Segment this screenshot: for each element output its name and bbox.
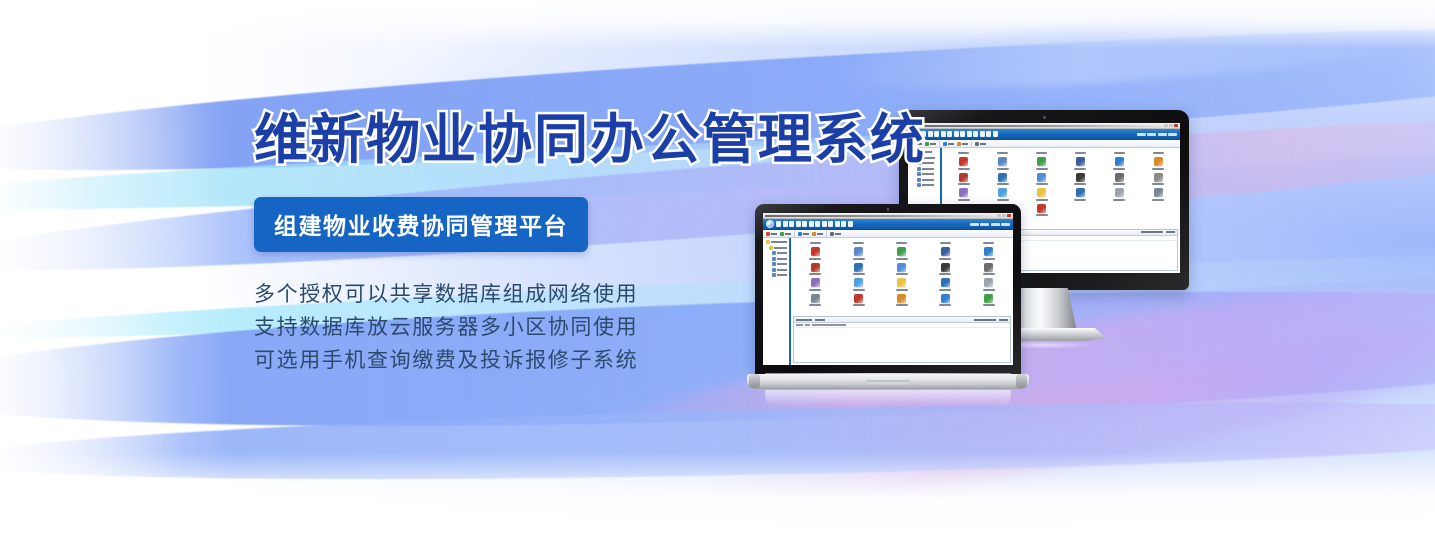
module-icon	[959, 157, 968, 166]
module-icon	[984, 247, 993, 256]
webcam-icon	[1043, 116, 1046, 119]
grid-header-label	[1036, 152, 1047, 154]
headline-title: 维新物业协同办公管理系统	[254, 112, 894, 169]
menu-item[interactable]	[941, 131, 946, 137]
module-icon	[1037, 173, 1046, 182]
module-icon-label	[1074, 168, 1086, 170]
module-icon	[984, 263, 993, 272]
promo-banner: 维新物业协同办公管理系统 组建物业收费协同管理平台 多个授权可以共享数据库组成网…	[0, 0, 1435, 538]
feature-line: 可选用手机查询缴费及投诉报修子系统	[254, 344, 894, 377]
module-icon-item[interactable]	[945, 157, 983, 170]
close-button[interactable]	[1007, 214, 1011, 217]
menubar-link[interactable]	[1168, 133, 1177, 136]
grid-header-cell	[1139, 152, 1177, 154]
tree-item-label	[922, 184, 934, 186]
tree-item-icon	[917, 183, 921, 187]
grid-header-cell	[1061, 152, 1099, 154]
laptop-foot-right	[1016, 374, 1027, 388]
toolbar-button-label	[980, 143, 986, 145]
feature-list: 多个授权可以共享数据库组成网络使用 支持数据库放云服务器多小区协同使用 可选用手…	[254, 278, 894, 377]
menu-item[interactable]	[960, 131, 965, 137]
close-button[interactable]	[1174, 124, 1178, 127]
module-icon-label	[939, 258, 951, 260]
module-icon-item[interactable]	[968, 247, 1010, 260]
module-icon-label	[896, 258, 908, 260]
feature-line: 支持数据库放云服务器多小区协同使用	[254, 311, 894, 344]
module-icon	[984, 278, 993, 287]
grid-header-label	[983, 242, 994, 244]
list-column-header	[1166, 231, 1175, 233]
module-icon-item[interactable]	[1061, 173, 1099, 186]
module-icon-label	[958, 168, 970, 170]
tree-item-icon	[917, 178, 921, 182]
module-icon	[1076, 173, 1085, 182]
module-icon-label	[939, 289, 951, 291]
module-icon-label	[1113, 183, 1125, 185]
module-icon-item[interactable]	[968, 294, 1010, 307]
module-icon-label	[896, 273, 908, 275]
menubar-link[interactable]	[1001, 223, 1010, 226]
menubar-link[interactable]	[991, 223, 1000, 226]
feature-line: 多个授权可以共享数据库组成网络使用	[254, 278, 894, 311]
module-icon-item[interactable]	[1061, 157, 1099, 170]
background-fade-left	[0, 0, 230, 538]
module-icon-label	[1113, 199, 1125, 201]
menubar-link[interactable]	[1137, 133, 1146, 136]
grid-header-label	[997, 152, 1008, 154]
tree-item[interactable]	[910, 172, 938, 176]
module-icon-label	[1036, 168, 1048, 170]
module-icon-item[interactable]	[945, 173, 983, 186]
grid-header-label	[940, 242, 951, 244]
tree-item[interactable]	[910, 178, 938, 182]
maximize-button[interactable]	[1169, 124, 1173, 127]
module-icon-item[interactable]	[1061, 188, 1099, 201]
window-controls	[997, 214, 1011, 217]
module-icon-label	[997, 183, 1009, 185]
menu-item[interactable]	[993, 131, 998, 137]
grid-header-cell	[984, 152, 1022, 154]
module-icon-label	[1152, 183, 1164, 185]
menu-item[interactable]	[947, 131, 952, 137]
module-icon-item[interactable]	[984, 188, 1022, 201]
module-icon-label	[896, 289, 908, 291]
module-icon-label	[1152, 168, 1164, 170]
toolbar-button[interactable]	[925, 142, 936, 146]
menu-item[interactable]	[967, 131, 972, 137]
minimize-button[interactable]	[997, 214, 1001, 217]
module-icon-item[interactable]	[924, 294, 966, 307]
module-icon	[1154, 173, 1163, 182]
module-icon-item[interactable]	[1023, 188, 1061, 201]
toolbar-button-label	[962, 143, 968, 145]
toolbar-button[interactable]	[943, 142, 954, 146]
module-icon	[897, 247, 906, 256]
grid-header-cell	[924, 242, 966, 244]
grid-header-label	[896, 242, 907, 244]
module-icon	[1154, 188, 1163, 197]
menu-item[interactable]	[934, 131, 939, 137]
module-icon-label	[1036, 214, 1048, 216]
module-icon-item[interactable]	[984, 173, 1022, 186]
menu-item[interactable]	[954, 131, 959, 137]
module-icon-label	[983, 273, 995, 275]
module-icon	[1076, 188, 1085, 197]
menubar-link[interactable]	[1158, 133, 1167, 136]
tree-item-label	[922, 173, 934, 175]
menubar-link[interactable]	[970, 223, 979, 226]
module-icon	[1037, 157, 1046, 166]
tree-item-label	[922, 179, 934, 181]
tree-item[interactable]	[910, 183, 938, 187]
grid-header-label	[1153, 152, 1164, 154]
toolbar-separator	[939, 141, 940, 147]
module-icon-label	[1074, 183, 1086, 185]
tree-item-icon	[917, 172, 921, 176]
toolbar-button-icon	[957, 142, 961, 146]
menu-items	[921, 131, 1135, 137]
window-title	[910, 125, 1163, 127]
module-icon-item[interactable]	[945, 188, 983, 201]
toolbar-separator	[971, 141, 972, 147]
module-icon-label	[958, 199, 970, 201]
module-icon-label	[896, 304, 908, 306]
menubar-links	[970, 223, 1011, 226]
module-icon	[1076, 157, 1085, 166]
module-icon-item[interactable]	[984, 157, 1022, 170]
grid-header-label	[1114, 152, 1125, 154]
module-icon-item[interactable]	[1100, 173, 1138, 186]
module-icon	[897, 278, 906, 287]
app-toolbar	[908, 140, 1180, 148]
toolbar-button-label	[930, 143, 936, 145]
maximize-button[interactable]	[1002, 214, 1006, 217]
module-icon	[941, 263, 950, 272]
menubar-links	[1137, 133, 1178, 136]
subtitle-badge: 组建物业收费协同管理平台	[254, 197, 588, 252]
module-icon	[998, 157, 1007, 166]
toolbar-button-icon	[943, 142, 947, 146]
module-icon-item[interactable]	[1139, 157, 1177, 170]
list-column-header	[1141, 231, 1163, 233]
module-icon-label	[997, 168, 1009, 170]
module-icon-item[interactable]	[1023, 157, 1061, 170]
grid-header-cell	[968, 242, 1010, 244]
module-icon	[984, 294, 993, 303]
module-icon-label	[1036, 199, 1048, 201]
module-icon-item[interactable]	[1100, 157, 1138, 170]
module-icon	[959, 188, 968, 197]
module-icon	[1037, 204, 1046, 213]
list-column-header	[999, 319, 1008, 321]
module-icon	[941, 294, 950, 303]
module-icon	[1115, 188, 1124, 197]
grid-header-cell	[1023, 152, 1061, 154]
module-icon-item[interactable]	[968, 263, 1010, 276]
module-icon-label	[1152, 199, 1164, 201]
module-icon-label	[983, 289, 995, 291]
app-menubar	[908, 129, 1180, 140]
module-icon-label	[939, 273, 951, 275]
banner-copy: 维新物业协同办公管理系统 组建物业收费协同管理平台 多个授权可以共享数据库组成网…	[254, 112, 894, 377]
module-icon-label	[1036, 183, 1048, 185]
grid-header-cell	[1100, 152, 1138, 154]
module-icon-item[interactable]	[924, 247, 966, 260]
module-icon-item[interactable]	[1139, 173, 1177, 186]
module-icon	[959, 173, 968, 182]
module-icon-item[interactable]	[968, 278, 1010, 291]
menubar-link[interactable]	[1147, 133, 1156, 136]
toolbar-button[interactable]	[975, 142, 986, 146]
module-icon	[998, 173, 1007, 182]
module-icon-label	[1074, 199, 1086, 201]
menu-item[interactable]	[986, 131, 991, 137]
module-icon	[897, 294, 906, 303]
module-icon	[1115, 173, 1124, 182]
module-icon	[897, 263, 906, 272]
menu-item[interactable]	[973, 131, 978, 137]
toolbar-button[interactable]	[957, 142, 968, 146]
toolbar-button-label	[948, 143, 954, 145]
module-icon-label	[983, 258, 995, 260]
grid-header-cell	[945, 152, 983, 154]
module-icon-item[interactable]	[1100, 188, 1138, 201]
menubar-link[interactable]	[980, 223, 989, 226]
module-icon-label	[958, 183, 970, 185]
module-icon	[941, 247, 950, 256]
module-icon-item[interactable]	[924, 263, 966, 276]
grid-header-label	[958, 152, 969, 154]
module-icon-item[interactable]	[1139, 188, 1177, 201]
module-icon-label	[1113, 168, 1125, 170]
module-icon-item[interactable]	[1023, 173, 1061, 186]
menu-item[interactable]	[928, 131, 933, 137]
list-column-header	[974, 319, 996, 321]
grid-header-label	[1075, 152, 1086, 154]
module-icon-label	[997, 199, 1009, 201]
laptop-reflection	[765, 390, 1011, 406]
minimize-button[interactable]	[1164, 124, 1168, 127]
laptop-trackpad-notch	[866, 380, 910, 384]
module-icon	[1154, 157, 1163, 166]
module-icon	[1037, 188, 1046, 197]
module-icon-label	[939, 304, 951, 306]
toolbar-button-icon	[975, 142, 979, 146]
module-icon	[998, 188, 1007, 197]
module-icon-label	[983, 304, 995, 306]
module-icon-item[interactable]	[924, 278, 966, 291]
menu-item[interactable]	[980, 131, 985, 137]
module-icon	[1115, 157, 1124, 166]
module-icon	[941, 278, 950, 287]
window-controls	[1164, 124, 1178, 127]
